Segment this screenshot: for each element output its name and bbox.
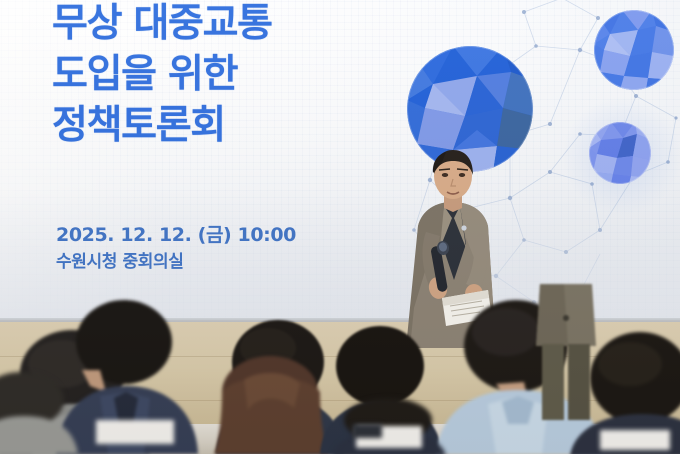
event-banner: 무상 대중교통 도입을 위한 정책토론회 2025. 12. 12. (금) 1… (0, 0, 680, 320)
headline-line-1: 무상 대중교통 (52, 0, 392, 49)
desk-device (352, 424, 382, 438)
headline-line-3: 정책토론회 (52, 100, 392, 151)
event-date-text: 2025. 12. 12. (금) 10:00 (56, 222, 296, 248)
press-photo-scene: 무상 대중교통 도입을 위한 정책토론회 2025. 12. 12. (금) 1… (0, 0, 680, 454)
banner-headline: 무상 대중교통 도입을 위한 정책토론회 (52, 0, 392, 151)
standing-attendee (528, 284, 604, 429)
audience-member-8 (0, 372, 80, 454)
desk-nameplate-1 (96, 420, 174, 444)
event-venue-text: 수원시청 중회의실 (56, 250, 296, 275)
headline-line-2: 도입을 위한 (52, 49, 392, 100)
banner-subinfo: 2025. 12. 12. (금) 10:00 수원시청 중회의실 (56, 222, 296, 275)
desk-paper-right (600, 430, 670, 450)
